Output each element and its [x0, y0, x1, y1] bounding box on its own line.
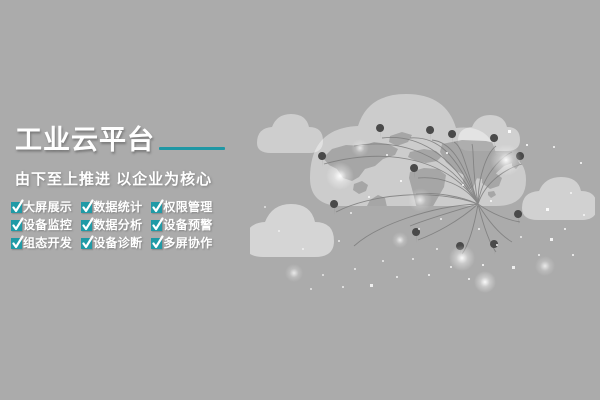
- check-box-icon: [81, 220, 92, 231]
- check-box-icon: [151, 202, 162, 213]
- feature-item[interactable]: 多屏协作: [151, 236, 212, 250]
- feature-list: 大屏展示 数据统计 权限管理: [11, 200, 213, 250]
- banner-copy: 工业云平台 由下至上推进 以企业为核心 大屏展示 数据统计: [0, 0, 250, 400]
- feature-label: 设备预警: [163, 218, 212, 232]
- feature-row: 设备监控 数据分析 设备预警: [11, 218, 213, 232]
- title-accent-rule: [159, 147, 225, 150]
- feature-item[interactable]: 数据分析: [81, 218, 142, 232]
- feature-label: 权限管理: [163, 200, 212, 214]
- feature-item[interactable]: 设备诊断: [81, 236, 142, 250]
- feature-label: 设备监控: [23, 218, 72, 232]
- banner-screenshot: 工业云平台 由下至上推进 以企业为核心 大屏展示 数据统计: [0, 0, 600, 400]
- feature-row: 大屏展示 数据统计 权限管理: [11, 200, 213, 214]
- check-box-icon: [11, 202, 22, 213]
- check-box-icon: [11, 220, 22, 231]
- page-title: 工业云平台: [15, 124, 155, 156]
- feature-label: 多屏协作: [163, 236, 212, 250]
- feature-label: 数据统计: [93, 200, 142, 214]
- cloud-shape: [250, 204, 334, 257]
- cloud-shape: [522, 177, 595, 220]
- feature-item[interactable]: 数据统计: [81, 200, 142, 214]
- check-box-icon: [151, 220, 162, 231]
- feature-item[interactable]: 组态开发: [11, 236, 72, 250]
- feature-label: 大屏展示: [23, 200, 72, 214]
- cloud-shape: [257, 114, 323, 153]
- feature-row: 组态开发 设备诊断 多屏协作: [11, 236, 213, 250]
- feature-item[interactable]: 设备预警: [151, 218, 212, 232]
- feature-item[interactable]: 大屏展示: [11, 200, 72, 214]
- cloud-world-network-illustration: [250, 88, 595, 303]
- check-box-icon: [81, 202, 92, 213]
- title-row: 工业云平台: [15, 124, 225, 156]
- feature-item[interactable]: 设备监控: [11, 218, 72, 232]
- check-box-icon: [11, 238, 22, 249]
- feature-label: 组态开发: [23, 236, 72, 250]
- check-box-icon: [81, 238, 92, 249]
- page-subtitle: 由下至上推进 以企业为核心: [15, 170, 212, 190]
- feature-item[interactable]: 权限管理: [151, 200, 212, 214]
- feature-label: 设备诊断: [93, 236, 142, 250]
- check-box-icon: [151, 238, 162, 249]
- feature-label: 数据分析: [93, 218, 142, 232]
